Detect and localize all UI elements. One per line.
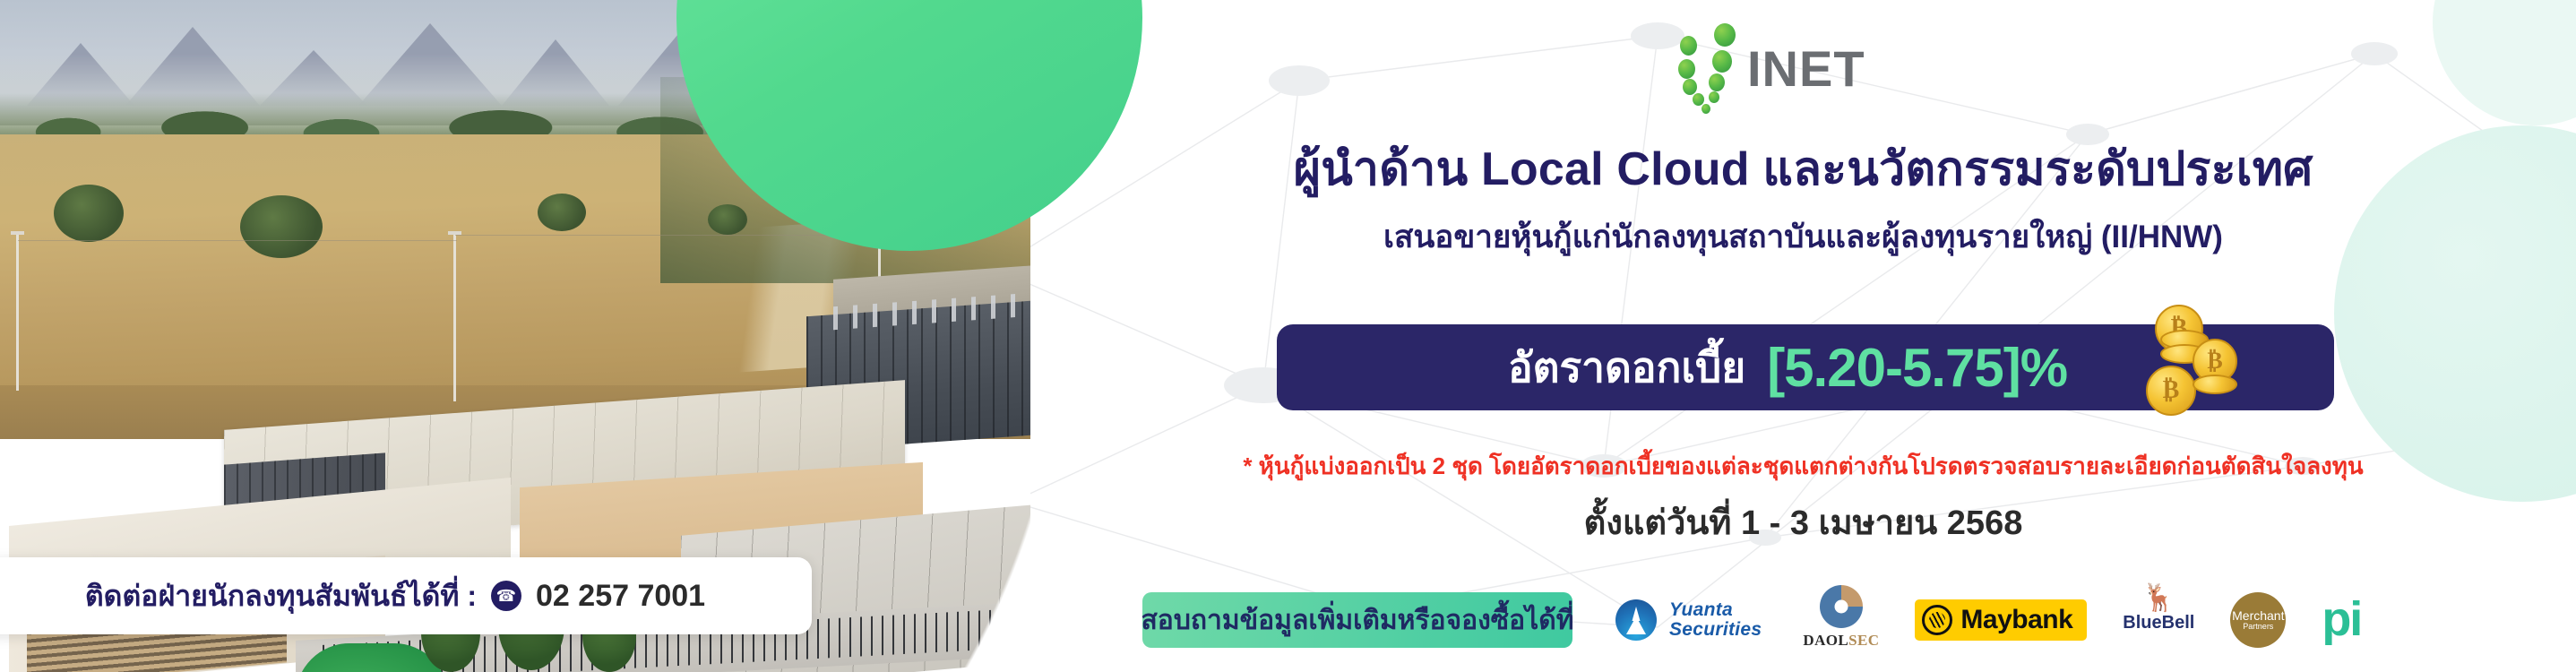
broker-logo-pi[interactable]: pi — [2286, 585, 2361, 655]
subscribe-info-button[interactable]: สอบถามข้อมูลเพิ่มเติมหรือจองซื้อได้ที่ — [1142, 592, 1572, 648]
merchant-line2: Partners — [2243, 623, 2273, 631]
broker-logo-bluebell[interactable]: 🦌 BlueBell — [2123, 585, 2194, 655]
merchant-line1: Merchant — [2232, 609, 2284, 623]
field-tree — [240, 195, 323, 258]
utility-pole — [453, 231, 456, 401]
yuanta-star-icon — [1615, 599, 1657, 641]
maybank-tiger-icon — [1922, 605, 1952, 635]
page-subtitle: เสนอขายหุ้นกู้แก่นักลงทุนสถาบันและผู้ลงท… — [1030, 219, 2576, 256]
power-wire — [18, 240, 457, 241]
broker-logo-merchant-partners[interactable]: Merchant Partners — [2230, 585, 2286, 655]
interest-rate-value: [5.20-5.75]% — [1767, 337, 2067, 399]
disclaimer-note: * หุ้นกู้แบ่งออกเป็น 2 ชุด โดยอัตราดอกเบ… — [1030, 448, 2576, 485]
broker-logo-list: Yuanta Securities DAOLSEC Maybank 🦌 Blue… — [1599, 585, 2361, 655]
power-wire — [455, 235, 880, 236]
investor-relations-contact-box: ติดต่อฝ่ายนักลงทุนสัมพันธ์ได้ที่ : ☎ 02 … — [0, 557, 812, 634]
bluebell-deer-icon: 🦌 — [2142, 585, 2175, 612]
maybank-wordmark: Maybank — [1960, 605, 2072, 635]
bluebell-wordmark: BlueBell — [2123, 613, 2194, 633]
page-title: ผู้นำด้าน Local Cloud และนวัตกรรมระดับปร… — [1030, 143, 2576, 197]
inet-bond-offering-banner: INET ผู้นำด้าน Local Cloud และนวัตกรรมระ… — [0, 0, 2576, 672]
phone-icon: ☎ — [491, 581, 521, 611]
pi-wordmark-icon: pi — [2322, 600, 2361, 639]
bitcoin-coin-stack-icon: ₿ ₿ ₿ — [2146, 299, 2280, 434]
merchant-circle-icon: Merchant Partners — [2230, 592, 2286, 648]
offering-period: ตั้งแต่วันที่ 1 - 3 เมษายน 2568 — [1030, 495, 2576, 549]
contact-label: ติดต่อฝ่ายนักลงทุนสัมพันธ์ได้ที่ : — [85, 573, 477, 619]
field-tree — [54, 185, 124, 242]
utility-pole — [16, 231, 19, 391]
broker-logo-maybank[interactable]: Maybank — [1915, 599, 2087, 641]
yuanta-line2: Securities — [1669, 620, 1762, 640]
broker-logo-daol[interactable]: DAOLSEC — [1803, 585, 1879, 655]
contact-phone-number[interactable]: 02 257 7001 — [536, 579, 705, 614]
field-tree — [538, 194, 586, 231]
interest-rate-label: อัตราดอกเบี้ย — [1508, 335, 1745, 401]
daol-line2: SEC — [1848, 632, 1879, 649]
field-tree — [708, 204, 747, 235]
interest-rate-box: อัตราดอกเบี้ย [5.20-5.75]% ₿ ₿ ₿ — [1277, 324, 2334, 410]
inet-logo: INET — [1653, 16, 2029, 86]
inet-wordmark: INET — [1747, 44, 1865, 94]
daol-line1: DAOL — [1803, 632, 1848, 649]
daol-pie-icon — [1820, 585, 1863, 628]
yuanta-line1: Yuanta — [1669, 600, 1762, 620]
cta-and-brokers-row: สอบถามข้อมูลเพิ่มเติมหรือจองซื้อได้ที่ Y… — [1142, 584, 2576, 656]
broker-logo-yuanta[interactable]: Yuanta Securities — [1615, 585, 1762, 655]
